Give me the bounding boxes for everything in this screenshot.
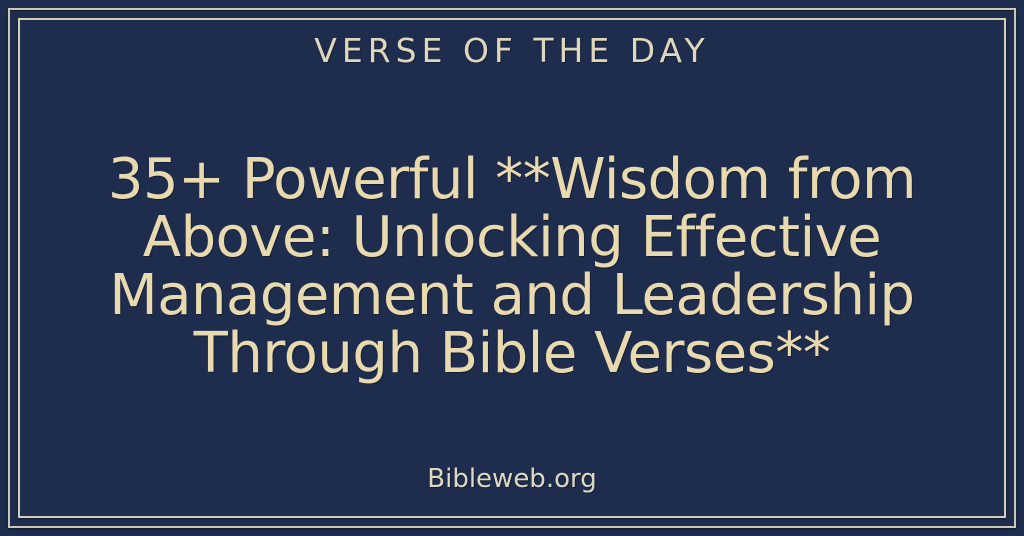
verse-of-the-day-poster: VERSE OF THE DAY 35+ Powerful **Wisdom f… xyxy=(0,0,1024,536)
header-section: VERSE OF THE DAY xyxy=(20,20,1004,69)
site-name-link[interactable]: Bibleweb.org xyxy=(427,465,596,494)
kicker-label: VERSE OF THE DAY xyxy=(314,34,709,69)
title-section: 35+ Powerful **Wisdom from Above: Unlock… xyxy=(20,69,1004,466)
page-title: 35+ Powerful **Wisdom from Above: Unlock… xyxy=(34,151,990,384)
footer-section: Bibleweb.org xyxy=(20,465,1004,516)
poster-content: VERSE OF THE DAY 35+ Powerful **Wisdom f… xyxy=(20,20,1004,516)
